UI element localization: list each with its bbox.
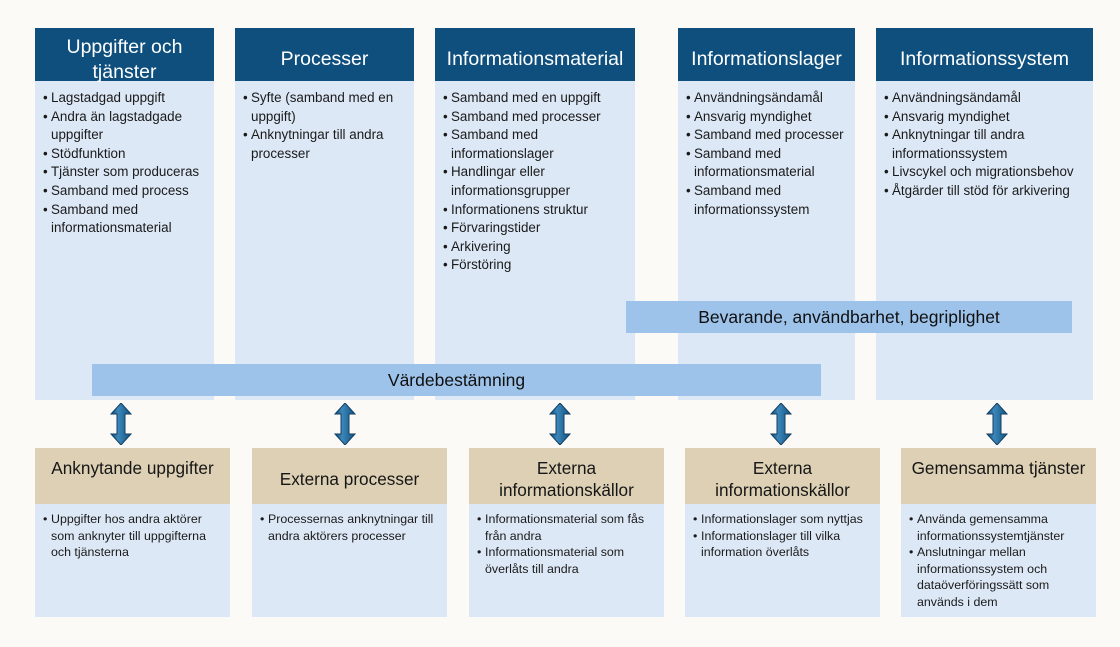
bottom-card-externa-processer[interactable]: Externa processer Processernas anknytnin… [252,448,447,617]
list-item: Förvaringstider [443,219,628,238]
column-bullet-list: Användningsändamål Ansvarig myndighet Sa… [686,89,848,219]
list-item: Informationslager till vilka information… [693,528,873,561]
column-body: Användningsändamål Ansvarig myndighet Sa… [678,81,855,400]
list-item: Samband med informationslager [443,126,628,163]
bottom-card-body: Processernas anknytningar till andra akt… [252,504,447,617]
list-item: Användningsändamål [686,89,848,108]
column-card-informationslager[interactable]: Informationslager Användningsändamål Ans… [678,28,855,400]
double-arrow-icon-5 [986,403,1008,445]
bottom-card-header: Gemensamma tjänster [901,448,1096,504]
list-item: Anknytningar till andra processer [243,126,407,163]
double-arrow-icon-1 [110,403,132,445]
list-item: Samband med processer [686,126,848,145]
diagram-canvas: Uppgifter och tjänster Lagstadgad uppgif… [0,0,1120,647]
double-arrow-icon-2 [334,403,356,445]
column-card-informationsmaterial[interactable]: Informationsmaterial Samband med en uppg… [435,28,635,400]
column-card-uppgifter-och-tjanster[interactable]: Uppgifter och tjänster Lagstadgad uppgif… [35,28,214,400]
bottom-bullet-list: Använda gemensamma informationssystemtjä… [909,511,1089,611]
column-body: Syfte (samband med en uppgift) Anknytnin… [235,81,414,400]
list-item: Åtgärder till stöd för arkivering [884,182,1086,201]
list-item: Informationsmaterial som fås från andra [477,511,657,544]
list-item: Samband med informationsmaterial [43,201,207,238]
bottom-card-header: Externa processer [252,448,447,504]
column-bullet-list: Syfte (samband med en uppgift) Anknytnin… [243,89,407,163]
list-item: Uppgifter hos andra aktörer som anknyter… [43,511,223,561]
list-item: Stödfunktion [43,145,207,164]
bottom-card-externa-informationskallor-2[interactable]: Externa informationskällor Informationsl… [685,448,880,617]
list-item: Förstöring [443,256,628,275]
bottom-card-body: Uppgifter hos andra aktörer som anknyter… [35,504,230,617]
list-item: Ansvarig myndighet [884,108,1086,127]
list-item: Anslutningar mellan informationssystem o… [909,544,1089,610]
list-item: Arkivering [443,238,628,257]
bottom-bullet-list: Informationsmaterial som fås från andra … [477,511,657,577]
column-bullet-list: Lagstadgad uppgift Andra än lagstadgade … [43,89,207,238]
double-arrow-icon-3 [549,403,571,445]
bottom-card-gemensamma-tjanster[interactable]: Gemensamma tjänster Använda gemensamma i… [901,448,1096,617]
bottom-card-anknytande-uppgifter[interactable]: Anknytande uppgifter Uppgifter hos andra… [35,448,230,617]
column-bullet-list: Samband med en uppgift Samband med proce… [443,89,628,275]
list-item: Samband med informationssystem [686,182,848,219]
column-header: Informationsmaterial [435,28,635,81]
list-item: Syfte (samband med en uppgift) [243,89,407,126]
column-header: Uppgifter och tjänster [35,28,214,81]
list-item: Samband med processer [443,108,628,127]
column-header: Processer [235,28,414,81]
list-item: Andra än lagstadgade uppgifter [43,108,207,145]
list-item: Samband med en uppgift [443,89,628,108]
list-item: Handlingar eller informationsgrupper [443,163,628,200]
list-item: Informationslager som nyttjas [693,511,873,528]
banner-bevarande-anvandbarhet-begriplighet[interactable]: Bevarande, användbarhet, begriplighet [626,301,1072,333]
list-item: Samband med informationsmaterial [686,145,848,182]
column-bullet-list: Användningsändamål Ansvarig myndighet An… [884,89,1086,201]
column-card-informationssystem[interactable]: Informationssystem Användningsändamål An… [876,28,1093,400]
bottom-card-body: Informationslager som nyttjas Informatio… [685,504,880,617]
list-item: Informationsmaterial som överlåts till a… [477,544,657,577]
column-card-processer[interactable]: Processer Syfte (samband med en uppgift)… [235,28,414,400]
list-item: Använda gemensamma informationssystemtjä… [909,511,1089,544]
list-item: Samband med process [43,182,207,201]
banner-vardebestamning[interactable]: Värdebestämning [92,364,821,396]
bottom-card-body: Informationsmaterial som fås från andra … [469,504,664,617]
list-item: Informationens struktur [443,201,628,220]
bottom-bullet-list: Uppgifter hos andra aktörer som anknyter… [43,511,223,561]
column-header: Informationssystem [876,28,1093,81]
list-item: Livscykel och migrationsbehov [884,163,1086,182]
bottom-card-externa-informationskallor-1[interactable]: Externa informationskällor Informationsm… [469,448,664,617]
bottom-bullet-list: Processernas anknytningar till andra akt… [260,511,440,544]
column-body: Användningsändamål Ansvarig myndighet An… [876,81,1093,400]
bottom-card-header: Externa informationskällor [469,448,664,504]
bottom-bullet-list: Informationslager som nyttjas Informatio… [693,511,873,561]
column-body: Samband med en uppgift Samband med proce… [435,81,635,400]
bottom-card-header: Externa informationskällor [685,448,880,504]
list-item: Lagstadgad uppgift [43,89,207,108]
list-item: Anknytningar till andra informationssyst… [884,126,1086,163]
column-body: Lagstadgad uppgift Andra än lagstadgade … [35,81,214,400]
column-header: Informationslager [678,28,855,81]
list-item: Användningsändamål [884,89,1086,108]
double-arrow-icon-4 [770,403,792,445]
list-item: Tjänster som produceras [43,163,207,182]
bottom-card-header: Anknytande uppgifter [35,448,230,504]
list-item: Ansvarig myndighet [686,108,848,127]
list-item: Processernas anknytningar till andra akt… [260,511,440,544]
bottom-card-body: Använda gemensamma informationssystemtjä… [901,504,1096,617]
